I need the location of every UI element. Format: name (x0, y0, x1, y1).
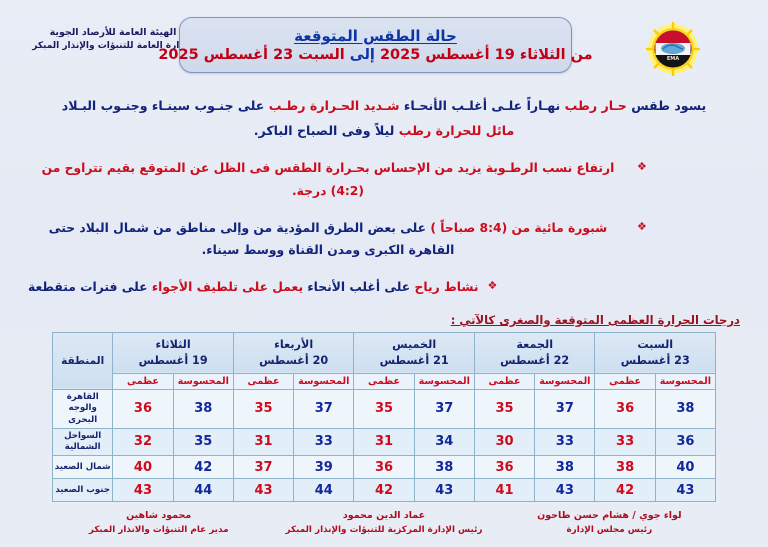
signature-name: لواء جوي / هشام حسن طاحون (497, 508, 722, 523)
date-range-from: من الثلاثاء 19 أغسطس 2025 (375, 47, 593, 63)
felt-wed: 39 (294, 456, 354, 479)
subheader-felt-wed: المحسوسة (294, 374, 354, 390)
lead-segment-3: نهـاراً علـى أغلـب الأنحـاء (400, 98, 565, 113)
max-wed: 37 (233, 456, 293, 479)
subheader-felt-thu: المحسوسة (414, 374, 474, 390)
table-day-header-row: السبت 23 أغسطس الجمعة 22 أغسطس الخميس 21… (53, 332, 716, 373)
diamond-bullet-icon: ❖ (637, 157, 647, 177)
felt-sat: 40 (655, 456, 715, 479)
max-fri: 30 (474, 428, 534, 455)
felt-fri: 33 (535, 428, 595, 455)
subheader-felt-fri: المحسوسة (535, 374, 595, 390)
felt-sat: 38 (655, 390, 715, 429)
max-fri: 36 (474, 456, 534, 479)
max-wed: 31 (233, 428, 293, 455)
day-name: السبت (596, 337, 714, 353)
temperature-forecast-table: السبت 23 أغسطس الجمعة 22 أغسطس الخميس 21… (52, 332, 716, 502)
lead-segment-4-very-hot: شـديد الحـرارة رطـب (269, 98, 400, 113)
date-range: من الثلاثاء 19 أغسطس 2025 إلى السبت 23 أ… (158, 47, 592, 63)
bullet-fog-rest: على بعض الطرق المؤدية من وإلى مناطق من ش… (49, 221, 455, 258)
felt-tue: 44 (173, 479, 233, 502)
temperature-table-wrapper: السبت 23 أغسطس الجمعة 22 أغسطس الخميس 21… (52, 332, 716, 502)
subheader-felt-tue: المحسوسة (173, 374, 233, 390)
max-thu: 36 (354, 456, 414, 479)
signature-name: عماد الدين محمود (271, 508, 496, 523)
date-range-connector: إلى (345, 47, 375, 63)
lead-segment-6-mild: مائل للحرارة رطب (399, 123, 515, 138)
region-name: القاهرة والوجه البحرى (53, 390, 113, 429)
region-name: شمال الصعيد (53, 456, 113, 479)
signature-central-head: عماد الدين محمود رئيس الإدارة المركزية ل… (271, 508, 496, 537)
day-header-wednesday: الأربعاء 20 أغسطس (233, 332, 354, 373)
max-thu: 31 (354, 428, 414, 455)
felt-tue: 35 (173, 428, 233, 455)
felt-sat: 43 (655, 479, 715, 502)
felt-sat: 36 (655, 428, 715, 455)
region-name: السواحل الشمالية (53, 428, 113, 455)
subheader-max-thu: عظمى (354, 374, 414, 390)
signature-name: محمود شاهين (46, 508, 271, 523)
weather-forecast-page: الهيئة العامة للأرصاد الجوية الإدارة الع… (0, 0, 768, 547)
day-header-thursday: الخميس 21 أغسطس (354, 332, 475, 373)
felt-thu: 34 (414, 428, 474, 455)
felt-tue: 38 (173, 390, 233, 429)
signature-role: مدير عام التنبؤات والانذار المبكر (46, 523, 271, 537)
felt-fri: 38 (535, 456, 595, 479)
max-sat: 38 (595, 456, 655, 479)
day-date: 23 أغسطس (596, 353, 714, 369)
day-name: الخميس (355, 337, 473, 353)
signature-role: رئيس الإدارة المركزية للتنبؤات والإنذار … (271, 523, 496, 537)
max-tue: 36 (113, 390, 173, 429)
bullet-fog: ❖ شبورة مائية من (8:4 صباحاً ) على بعض ا… (28, 217, 734, 262)
diamond-bullet-icon: ❖ (487, 276, 497, 296)
bullet-fog-highlight: شبورة مائية من (8:4 صباحاً ) (430, 221, 607, 235)
page-title: حالة الطقس المتوقعة (294, 27, 457, 45)
day-header-saturday: السبت 23 أغسطس (595, 332, 716, 373)
max-wed: 35 (233, 390, 293, 429)
max-sat: 33 (595, 428, 655, 455)
max-sat: 42 (595, 479, 655, 502)
table-body: 38 36 37 35 37 35 37 35 38 36 القاهرة وا… (53, 390, 716, 502)
subheader-max-fri: عظمى (474, 374, 534, 390)
signature-role: رئيس مجلس الإدارة (497, 523, 722, 537)
signature-general-manager: محمود شاهين مدير عام التنبؤات والانذار ا… (46, 508, 271, 537)
day-date: 21 أغسطس (355, 353, 473, 369)
day-header-tuesday: الثلاثاء 19 أغسطس (113, 332, 234, 373)
max-wed: 43 (233, 479, 293, 502)
day-date: 22 أغسطس (476, 353, 594, 369)
date-range-to: السبت 23 أغسطس 2025 (158, 47, 344, 63)
temperature-table-caption: درجات الحرارة العظمى المتوقعة والصغرى كا… (0, 313, 740, 327)
table-row: 38 36 37 35 37 35 37 35 38 36 القاهرة وا… (53, 390, 716, 429)
bullet-humidity: ❖ ارتفاع نسب الرطـوبة يزيد من الإحساس بح… (28, 157, 734, 202)
table-head: السبت 23 أغسطس الجمعة 22 أغسطس الخميس 21… (53, 332, 716, 389)
document-header: الهيئة العامة للأرصاد الجوية الإدارة الع… (0, 0, 768, 92)
felt-fri: 43 (535, 479, 595, 502)
bullet-wind-text: نشاط رياح على أغلب الأنحاء يعمل على تلطي… (28, 276, 478, 299)
felt-wed: 44 (294, 479, 354, 502)
day-date: 20 أغسطس (235, 353, 353, 369)
subheader-max-tue: عظمى (113, 374, 173, 390)
max-tue: 43 (113, 479, 173, 502)
forecast-summary-paragraph: يسود طقس حـار رطب نهـاراً علـى أغلـب الأ… (52, 94, 716, 143)
subheader-max-sat: عظمى (595, 374, 655, 390)
lead-segment-2-hot-humid: حـار رطب (565, 98, 627, 113)
felt-thu: 43 (414, 479, 474, 502)
felt-wed: 33 (294, 428, 354, 455)
day-name: الجمعة (476, 337, 594, 353)
felt-wed: 37 (294, 390, 354, 429)
bullet-humidity-text: ارتفاع نسب الرطـوبة يزيد من الإحساس بحـر… (28, 157, 628, 202)
region-line-1: القاهرة (54, 392, 111, 403)
egypt-meteorological-authority-logo: EMA (642, 22, 704, 76)
day-name: الأربعاء (235, 337, 353, 353)
signature-chairman: لواء جوي / هشام حسن طاحون رئيس مجلس الإد… (497, 508, 722, 537)
region-column-header: المنطقة (53, 332, 113, 389)
max-thu: 35 (354, 390, 414, 429)
max-fri: 41 (474, 479, 534, 502)
lead-segment-1: يسود طقس (627, 98, 706, 113)
table-subheader-row: المحسوسة عظمى المحسوسة عظمى المحسوسة عظم… (53, 374, 716, 390)
region-line-2: والوجه البحرى (54, 403, 111, 425)
forecast-bullet-list: ❖ ارتفاع نسب الرطـوبة يزيد من الإحساس بح… (28, 157, 734, 299)
day-date: 19 أغسطس (114, 353, 232, 369)
bullet-wind-highlight: نشاط رياح (414, 280, 478, 294)
max-tue: 40 (113, 456, 173, 479)
subheader-felt-sat: المحسوسة (655, 374, 715, 390)
table-row: 36 33 33 30 34 31 33 31 35 32 السواحل ال… (53, 428, 716, 455)
max-sat: 36 (595, 390, 655, 429)
lead-segment-7: ليلاً وفى الصباح الباكر. (254, 123, 399, 138)
felt-fri: 37 (535, 390, 595, 429)
title-banner: حالة الطقس المتوقعة من الثلاثاء 19 أغسطس… (179, 17, 572, 73)
bullet-wind-rest-b: على فترات متقطعة (28, 280, 152, 294)
felt-tue: 42 (173, 456, 233, 479)
max-tue: 32 (113, 428, 173, 455)
felt-thu: 38 (414, 456, 474, 479)
day-name: الثلاثاء (114, 337, 232, 353)
bullet-wind-rest-a: على أغلب الأنحاء (303, 280, 414, 294)
felt-thu: 37 (414, 390, 474, 429)
max-thu: 42 (354, 479, 414, 502)
document-footer: لواء جوي / هشام حسن طاحون رئيس مجلس الإد… (0, 508, 768, 537)
table-row: 43 42 43 41 43 42 44 43 44 43 جنوب الصعي… (53, 479, 716, 502)
subheader-max-wed: عظمى (233, 374, 293, 390)
svg-text:EMA: EMA (667, 56, 679, 62)
diamond-bullet-icon: ❖ (637, 217, 647, 237)
day-header-friday: الجمعة 22 أغسطس (474, 332, 595, 373)
bullet-fog-text: شبورة مائية من (8:4 صباحاً ) على بعض الط… (28, 217, 628, 262)
region-name: جنوب الصعيد (53, 479, 113, 502)
bullet-wind-highlight-b: يعمل على تلطيف الأجواء (152, 280, 303, 294)
lead-segment-5: على جنـوب سينـاء وجنـوب البـلاد (62, 98, 269, 113)
table-row: 40 38 38 36 38 36 39 37 42 40 شمال الصعي… (53, 456, 716, 479)
bullet-wind: ❖ نشاط رياح على أغلب الأنحاء يعمل على تل… (28, 276, 734, 299)
max-fri: 35 (474, 390, 534, 429)
